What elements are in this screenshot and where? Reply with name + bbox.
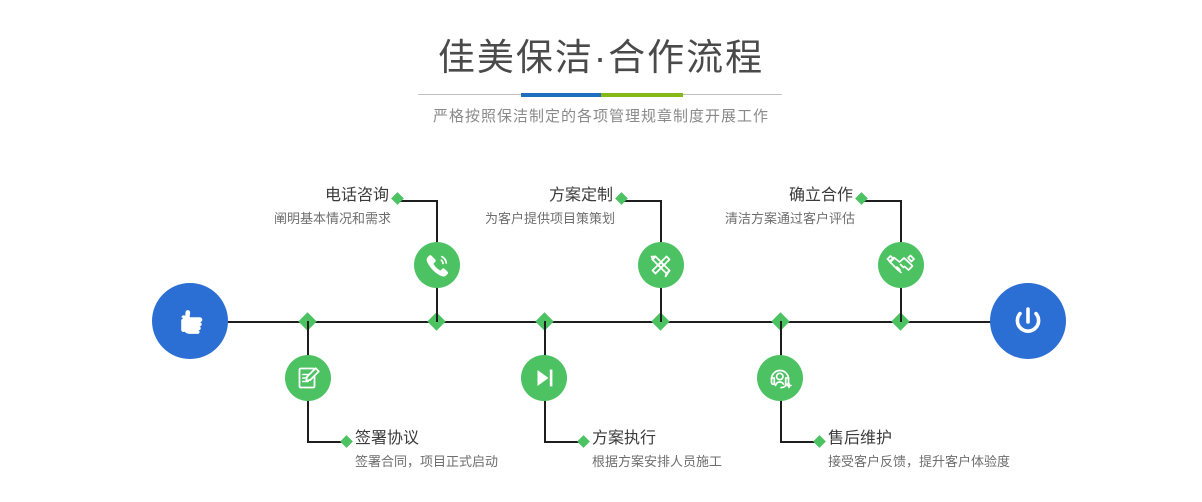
step-desc-1: 阐明基本情况和需求 [183, 209, 391, 229]
step-desc-6: 接受客户反馈，提升客户体验度 [828, 452, 1078, 472]
step-label-6: 售后维护 接受客户反馈，提升客户体验度 [828, 428, 1078, 472]
step-title-1: 电话咨询 [183, 185, 391, 207]
title-divider [418, 93, 782, 97]
process-flow-infographic: 佳美保洁·合作流程 严格按照保洁制定的各项管理规章制度开展工作 [0, 0, 1202, 502]
step-desc-2: 签署合同，项目正式启动 [355, 452, 585, 472]
step-label-2: 签署协议 签署合同，项目正式启动 [355, 428, 585, 472]
step-title-3: 方案定制 [407, 185, 615, 207]
step-title-2: 签署协议 [355, 428, 585, 450]
step-desc-3: 为客户提供项目策策划 [407, 209, 615, 229]
pointing-hand-icon [168, 299, 212, 343]
step-title-5: 确立合作 [647, 185, 855, 207]
leader-v-step5 [900, 200, 902, 244]
leader-dot-step1 [391, 192, 404, 205]
play-next-icon [529, 363, 559, 393]
step-label-1: 电话咨询 阐明基本情况和需求 [183, 185, 391, 229]
leader-v-step2 [307, 399, 309, 443]
pencil-ruler-icon [646, 250, 676, 280]
step-node-2[interactable] [285, 355, 331, 401]
step-desc-5: 清洁方案通过客户评估 [647, 209, 855, 229]
step-node-1[interactable] [414, 242, 460, 288]
divider-segment-green [601, 93, 683, 97]
leader-dot-step5 [855, 192, 868, 205]
step-node-6[interactable] [757, 355, 803, 401]
leader-dot-step3 [615, 192, 628, 205]
step-label-4: 方案执行 根据方案安排人员施工 [592, 428, 822, 472]
leader-h-step5 [862, 200, 902, 202]
timeline-end-badge[interactable] [990, 283, 1066, 359]
leader-dot-step2 [340, 435, 353, 448]
step-desc-4: 根据方案安排人员施工 [592, 452, 822, 472]
timeline-start-badge[interactable] [152, 283, 228, 359]
divider-segment-blue [521, 93, 601, 97]
step-title-4: 方案执行 [592, 428, 822, 450]
page-title: 佳美保洁·合作流程 [0, 36, 1202, 80]
document-edit-icon [293, 363, 323, 393]
step-node-5[interactable] [878, 242, 924, 288]
page-subtitle: 严格按照保洁制定的各项管理规章制度开展工作 [0, 106, 1202, 128]
step-node-4[interactable] [521, 355, 567, 401]
step-label-3: 方案定制 为客户提供项目策策划 [407, 185, 615, 229]
step-title-6: 售后维护 [828, 428, 1078, 450]
headset-support-icon [765, 363, 795, 393]
power-icon [1006, 299, 1050, 343]
step-label-5: 确立合作 清洁方案通过客户评估 [647, 185, 855, 229]
phone-call-icon [422, 250, 452, 280]
handshake-icon [885, 249, 917, 281]
step-node-3[interactable] [638, 242, 684, 288]
